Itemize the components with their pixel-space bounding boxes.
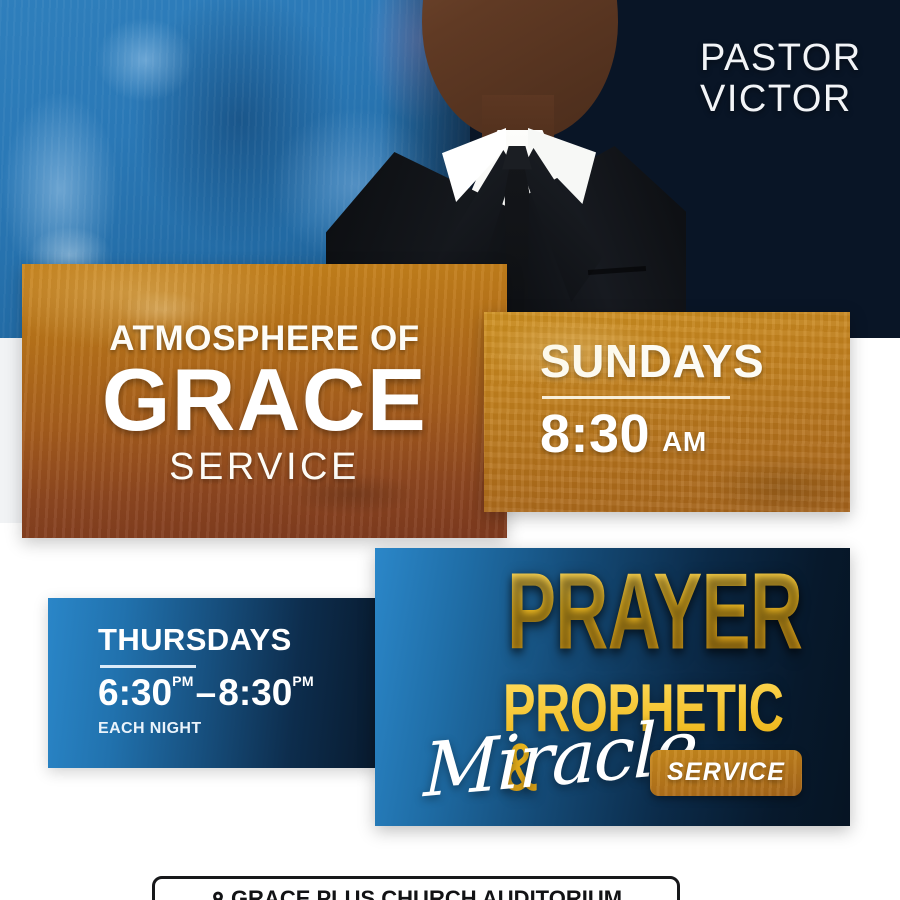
thursdays-divider-rule (100, 665, 196, 668)
pastor-name-line-2: VICTOR (700, 79, 880, 120)
pastor-name-line-1: PASTOR (700, 38, 880, 79)
thursdays-time-row: 6:30 PM – 8:30 PM (98, 674, 378, 711)
thursdays-end-meridiem: PM (292, 674, 314, 688)
sundays-day-label: SUNDAYS (540, 338, 850, 384)
location-pin-icon (210, 891, 226, 900)
prayer-title-line-1: PRAYER (507, 566, 802, 659)
sundays-time-panel: SUNDAYS 8:30 AM (484, 312, 850, 512)
thursdays-note: EACH NIGHT (98, 720, 378, 738)
venue-bar[interactable]: GRACE PLUS CHURCH AUDITORIUM (152, 876, 680, 900)
grace-title-line-3: SERVICE (169, 446, 360, 489)
thursdays-end-time: 8:30 (218, 674, 292, 711)
prayer-service-badge-label: SERVICE (667, 758, 785, 786)
sundays-time-row: 8:30 AM (540, 407, 850, 461)
prayer-service-badge: SERVICE (650, 750, 802, 796)
thursdays-start-meridiem: PM (172, 674, 194, 688)
sundays-divider-rule (542, 396, 730, 399)
venue-name: GRACE PLUS CHURCH AUDITORIUM (231, 886, 622, 900)
grace-title-line-2: GRACE (102, 358, 427, 442)
thursdays-time-panel: THURSDAYS 6:30 PM – 8:30 PM EACH NIGHT (48, 598, 378, 768)
prayer-prophetic-miracle-panel: PRAYER PROPHETIC & Miracle SERVICE (375, 548, 850, 826)
thursdays-start-time: 6:30 (98, 674, 172, 711)
sundays-time-value: 8:30 (540, 407, 650, 461)
pastor-name-block: PASTOR VICTOR (700, 38, 880, 120)
thursdays-time-dash: – (196, 674, 217, 711)
sundays-meridiem: AM (662, 428, 707, 461)
thursdays-day-label: THURSDAYS (98, 624, 378, 655)
church-service-flyer: PASTOR VICTOR ATMOSPHERE OF GRACE SERVIC… (0, 0, 900, 900)
atmosphere-of-grace-panel: ATMOSPHERE OF GRACE SERVICE (22, 264, 507, 538)
